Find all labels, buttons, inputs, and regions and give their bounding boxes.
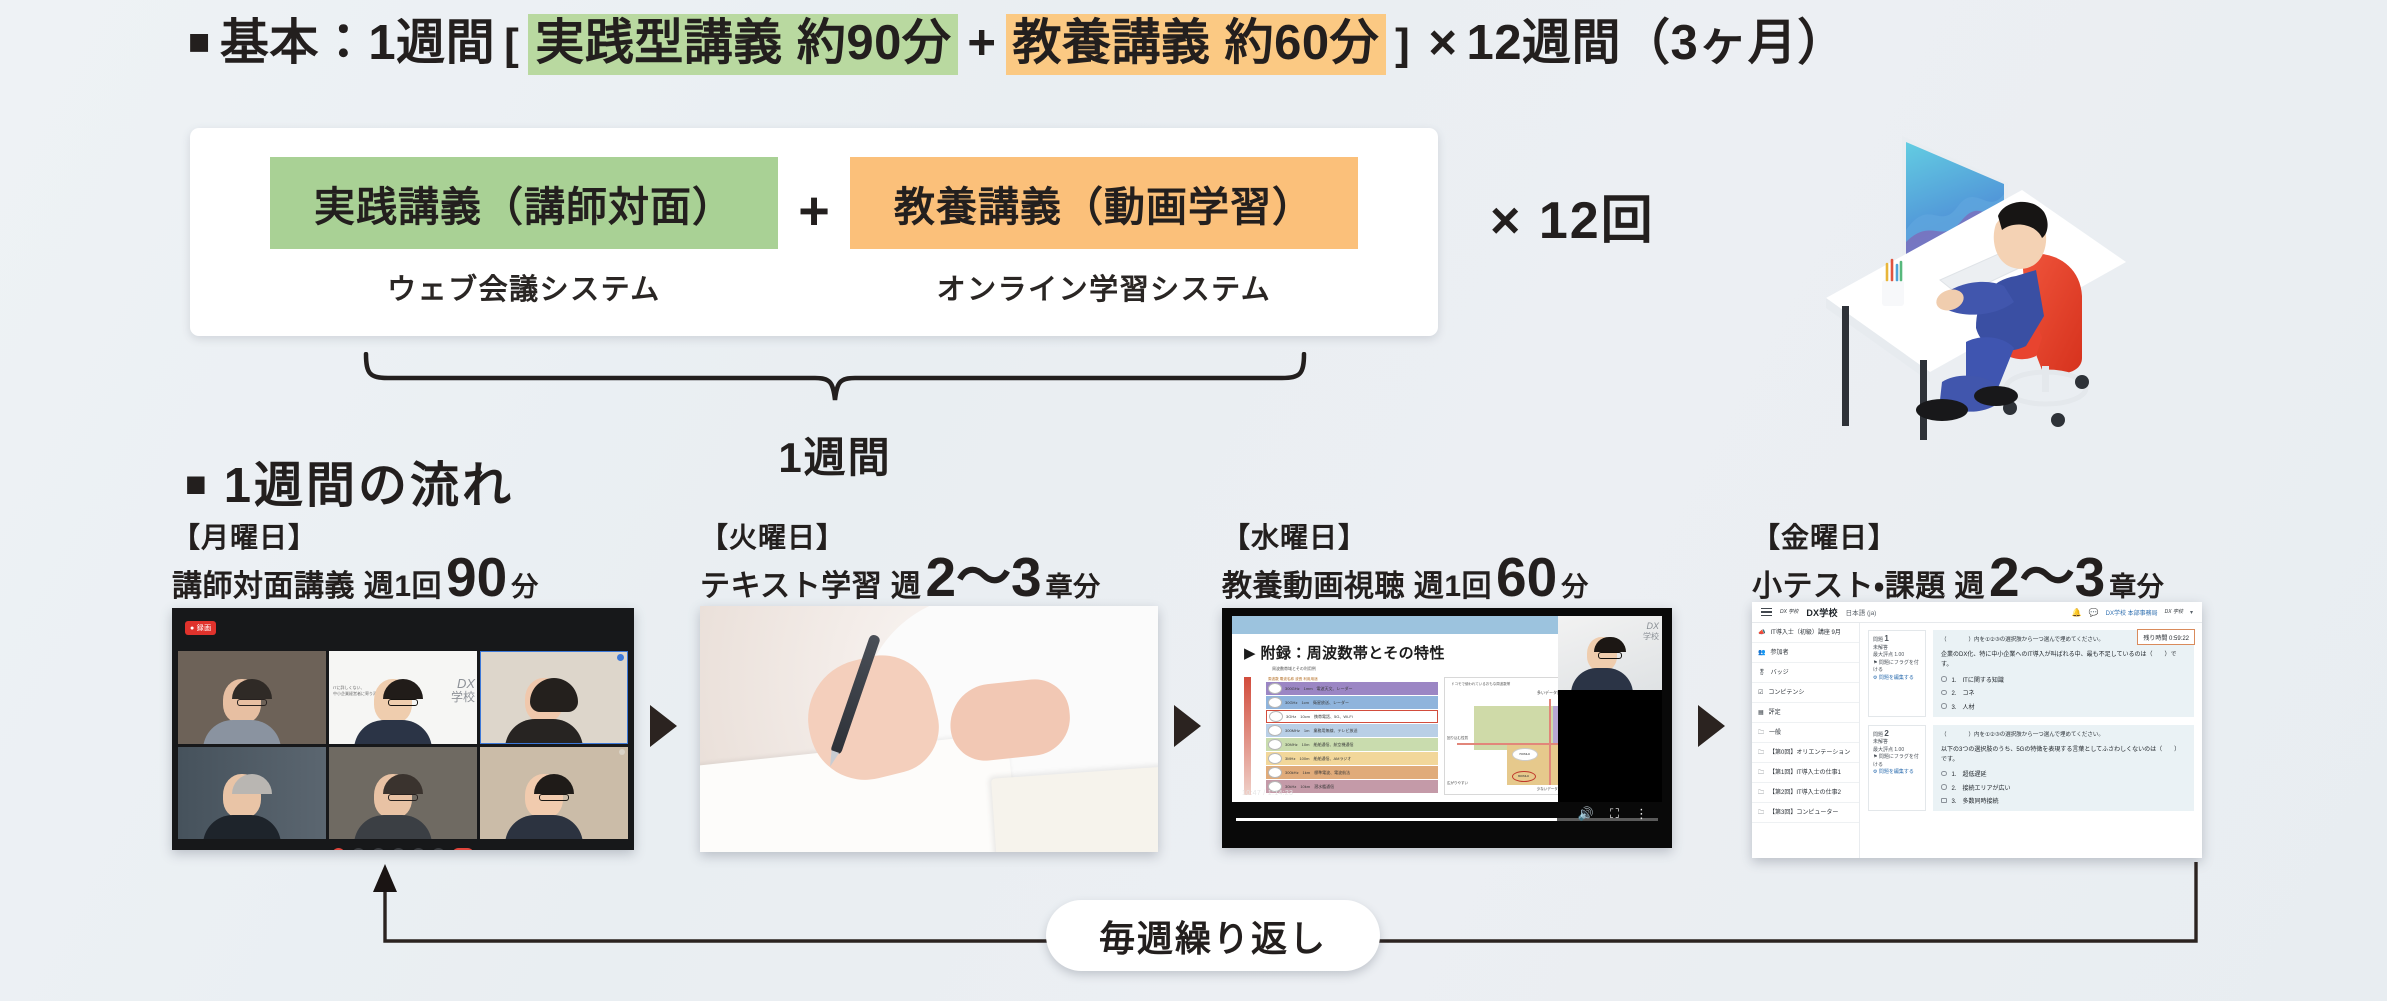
weekly-loop-arrow [0, 0, 2387, 1001]
diagram-canvas: ■基本：1週間[実践型講義 約90分+教養講義 約60分]×12週間（3ヶ月） … [0, 0, 2387, 1001]
loop-label-pill: 毎週繰り返し [1046, 900, 1380, 971]
